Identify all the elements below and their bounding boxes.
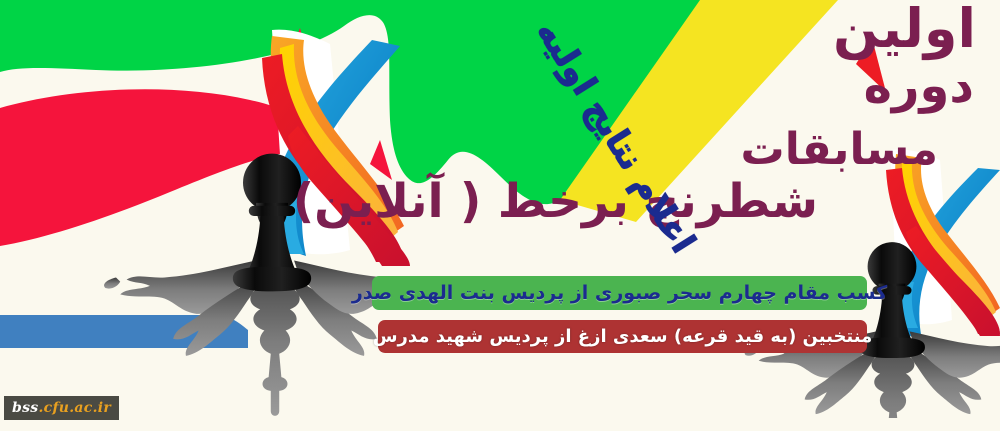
bottom-strip <box>0 418 1000 431</box>
watermark-primary: bss <box>12 400 38 416</box>
heading-line-1: اولین <box>833 2 976 56</box>
poster-canvas: اولین دوره مسابقات شطرنج برخط ( آنلاین) … <box>0 0 1000 431</box>
site-watermark[interactable]: bss.cfu.ac.ir <box>4 396 119 420</box>
heading-line-3: مسابقات <box>741 128 938 172</box>
watermark-secondary: .cfu.ac.ir <box>38 400 111 416</box>
result-banner-selected: منتخبین (به قید قرعه) سعدی ازغ از پردیس … <box>378 320 867 353</box>
result-banner-fourth-place: کسب مقام چهارم سحر صبوری از پردیس بنت ال… <box>372 276 867 310</box>
heading-line-2: دوره <box>864 62 974 110</box>
